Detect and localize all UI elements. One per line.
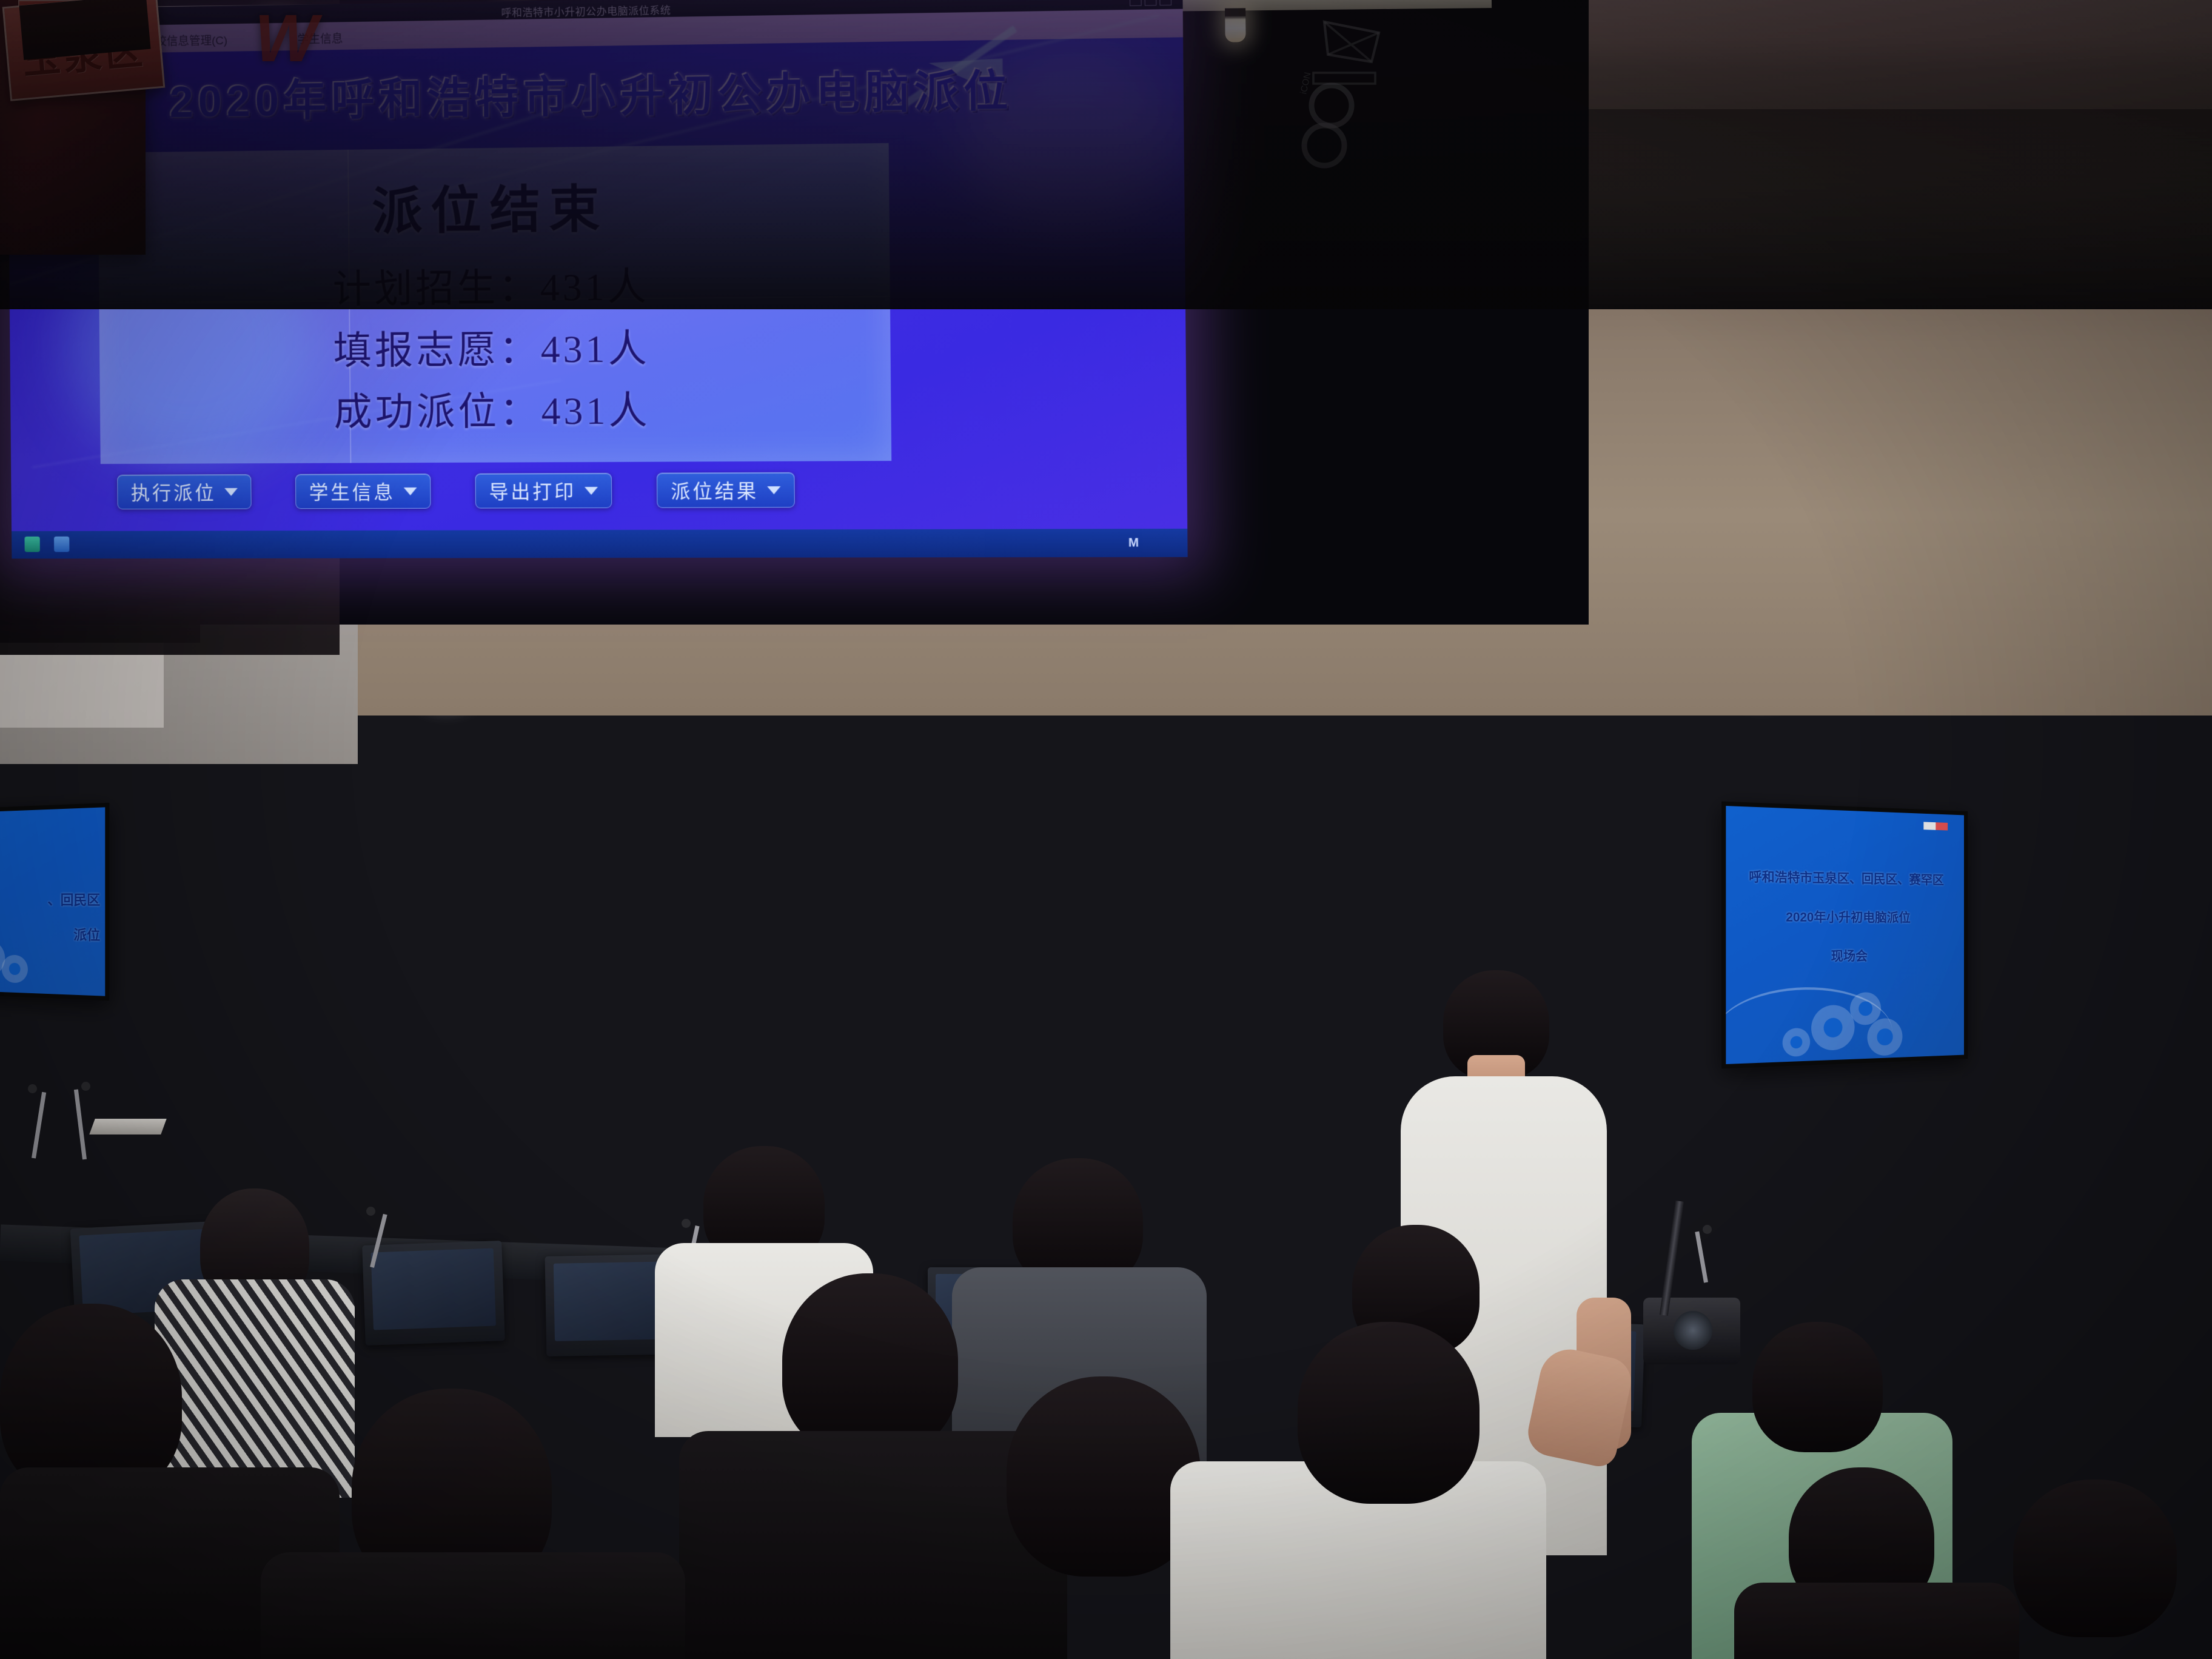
audience-head-foreground: [1298, 1322, 1480, 1504]
tv-left-line2: 派位: [0, 923, 100, 945]
microphone-head-icon: [682, 1219, 691, 1228]
desk-monitor[interactable]: [362, 1241, 505, 1346]
chevron-down-icon: [585, 486, 598, 494]
stat-unit-applied: 人: [608, 327, 650, 370]
tv-right-line1: 呼和浩特市玉泉区、回民区、赛罕区: [1726, 866, 1964, 889]
microphone-icon: [1695, 1232, 1708, 1283]
conference-hall-photo: 呼和浩特市小升初公办电脑派位系统 系统管理(S) 学校信息管理(C) 学生信息 …: [0, 0, 2212, 1659]
wall-tv-left-screen: 、回民区 派位: [0, 807, 105, 996]
lottery-result-label: 派位结果: [671, 476, 759, 504]
chevron-down-icon: [224, 488, 238, 495]
stat-label-assigned: 成功派位：: [333, 389, 541, 434]
lottery-result-button[interactable]: 派位结果: [657, 472, 795, 508]
microphone-head-icon: [28, 1084, 37, 1093]
chevron-down-icon: [767, 486, 780, 494]
microphone-head-icon: [81, 1082, 90, 1091]
tv-right-line2: 2020年小升初电脑派位: [1726, 907, 1964, 926]
wall-tv-left: 、回民区 派位: [0, 803, 109, 1001]
export-print-button[interactable]: 导出打印: [475, 473, 612, 509]
wall-tv-right: 呼和浩特市玉泉区、回民区、赛罕区 2020年小升初电脑派位 现场会: [1721, 801, 1968, 1068]
audience-head: [2013, 1480, 2177, 1637]
stat-unit-assigned: 人: [608, 389, 651, 432]
network-icon[interactable]: [24, 537, 39, 552]
audience-body-foreground: [261, 1552, 685, 1659]
stat-label-applied: 填报志愿：: [333, 328, 541, 372]
audience-head: [1752, 1322, 1883, 1452]
export-print-label: 导出打印: [489, 477, 576, 504]
student-info-button[interactable]: 学生信息: [295, 474, 431, 509]
tv-indicator-stripe: [1923, 822, 1948, 830]
volume-icon[interactable]: [54, 537, 69, 552]
audience-body: [155, 1279, 355, 1498]
microphone-head-icon: [1703, 1225, 1712, 1234]
tv-right-line3: 现场会: [1726, 946, 1964, 966]
tray-indicator[interactable]: M: [1128, 536, 1139, 550]
os-taskbar[interactable]: M: [12, 529, 1188, 558]
microphone-icon: [74, 1089, 87, 1159]
stat-row-assigned: 成功派位：431人: [100, 378, 891, 438]
gear-cog-icon: [2, 954, 28, 983]
chevron-down-icon: [404, 487, 417, 495]
wall-tv-right-screen: 呼和浩特市玉泉区、回民区、赛罕区 2020年小升初电脑派位 现场会: [1726, 806, 1964, 1064]
microphone-icon: [32, 1092, 46, 1159]
gear-cog-icon: [1867, 1018, 1902, 1056]
floor-shadow: [0, 0, 2212, 309]
stat-row-applied: 填报志愿：431人: [99, 315, 891, 377]
action-button-row: 执行派位 学生信息 导出打印 派位结果: [11, 471, 1187, 518]
execute-lottery-button[interactable]: 执行派位: [117, 474, 252, 509]
tv-left-line1: 、回民区: [0, 889, 100, 909]
stat-value-assigned: 431: [541, 389, 608, 433]
podium-laptop: [89, 1119, 166, 1134]
student-info-label: 学生信息: [309, 477, 396, 505]
audience-head-foreground: [782, 1273, 958, 1455]
stat-value-applied: 431: [540, 327, 608, 371]
microphone-head-icon: [366, 1207, 375, 1216]
audience-body: [1734, 1583, 2019, 1659]
camera-lens-icon: [1674, 1311, 1712, 1350]
execute-lottery-label: 执行派位: [131, 478, 216, 506]
